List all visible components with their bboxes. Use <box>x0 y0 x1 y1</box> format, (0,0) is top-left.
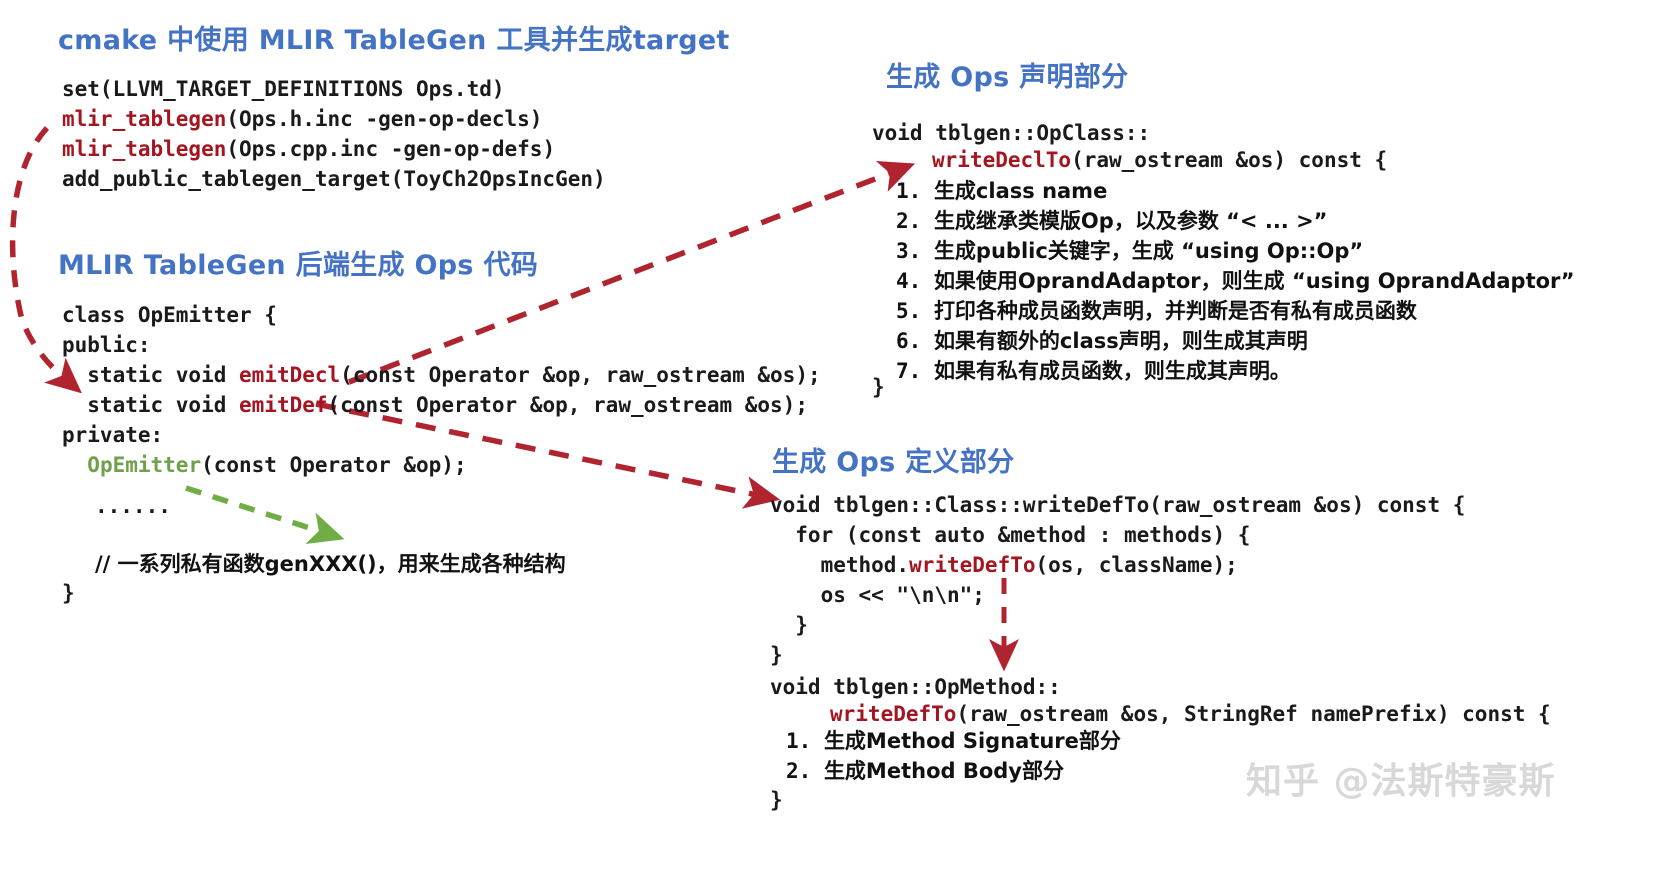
comment-private-functions: // 一系列私有函数genXXX()，用来生成各种结构 <box>95 548 566 578</box>
code-line: public: <box>62 330 821 360</box>
code-line: private: <box>62 420 821 450</box>
def-method-line1: void tblgen::OpMethod:: <box>770 672 1061 702</box>
code-token: emitDecl <box>239 363 340 387</box>
code-token: public: <box>62 333 151 357</box>
code-token: (const Operator &op); <box>201 453 467 477</box>
decl-signature-line1: void tblgen::OpClass:: <box>872 118 1150 148</box>
watermark: 知乎 @法斯特豪斯 <box>1246 752 1556 804</box>
code-token: mlir_tablegen <box>62 107 226 131</box>
def-method-line2: writeDefTo(raw_ostream &os, StringRef na… <box>830 699 1551 729</box>
code-token: (os, className); <box>1036 553 1238 577</box>
code-token: } <box>770 613 808 637</box>
code-token: void tblgen::Class::writeDefTo(raw_ostre… <box>770 493 1465 517</box>
list-item: 6. 如果有额外的class声明，则生成其声明 <box>896 326 1575 356</box>
def-step-list: 1. 生成Method Signature部分2. 生成Method Body部… <box>786 726 1121 786</box>
code-line: } <box>770 610 1465 640</box>
code-token: set(LLVM_TARGET_DEFINITIONS Ops.td) <box>62 77 505 101</box>
list-item-number: 4. <box>896 269 934 293</box>
code-token: class OpEmitter { <box>62 303 277 327</box>
list-item-number: 5. <box>896 299 934 323</box>
code-token: mlir_tablegen <box>62 137 226 161</box>
code-block-backend: class OpEmitter {public: static void emi… <box>62 300 821 480</box>
decl-closing-brace: } <box>872 372 885 402</box>
code-token: (const Operator &op, raw_ostream &os); <box>328 393 808 417</box>
list-item-text: 如果有私有成员函数，则生成其声明。 <box>934 359 1291 383</box>
code-token: method. <box>770 553 909 577</box>
list-item-text: 生成Method Signature部分 <box>824 729 1121 753</box>
list-item-text: 生成Method Body部分 <box>824 759 1064 783</box>
code-token: (Ops.h.inc -gen-op-decls) <box>226 107 542 131</box>
list-item-number: 7. <box>896 359 934 383</box>
code-line: static void emitDef(const Operator &op, … <box>62 390 821 420</box>
code-line: mlir_tablegen(Ops.h.inc -gen-op-decls) <box>62 104 606 134</box>
list-item-text: 如果有额外的class声明，则生成其声明 <box>934 329 1308 353</box>
list-item-number: 1. <box>896 179 934 203</box>
list-item: 7. 如果有私有成员函数，则生成其声明。 <box>896 356 1575 386</box>
code-token: writeDefTo <box>909 553 1035 577</box>
list-item: 4. 如果使用OprandAdaptor，则生成 “using OprandAd… <box>896 266 1575 296</box>
decl-signature-fn: writeDeclTo <box>932 148 1071 172</box>
list-item-text: 生成class name <box>934 179 1107 203</box>
code-line: mlir_tablegen(Ops.cpp.inc -gen-op-defs) <box>62 134 606 164</box>
list-item-number: 6. <box>896 329 934 353</box>
code-line: static void emitDecl(const Operator &op,… <box>62 360 821 390</box>
list-item: 1. 生成class name <box>896 176 1575 206</box>
decl-signature-line2: writeDeclTo(raw_ostream &os) const { <box>932 145 1387 175</box>
list-item: 2. 生成继承类模版Op，以及参数 “< ... >” <box>896 206 1575 236</box>
code-line: add_public_tablegen_target(ToyCh2OpsIncG… <box>62 164 606 194</box>
list-item: 1. 生成Method Signature部分 <box>786 726 1121 756</box>
backend-closing-brace: } <box>62 578 75 608</box>
list-item: 3. 生成public关键字，生成 “using Op::Op” <box>896 236 1575 266</box>
code-token: os << "\n\n"; <box>770 583 985 607</box>
code-line: void tblgen::Class::writeDefTo(raw_ostre… <box>770 490 1465 520</box>
code-token: } <box>770 643 783 667</box>
code-token: add_public_tablegen_target(ToyCh2OpsIncG… <box>62 167 606 191</box>
code-token: (Ops.cpp.inc -gen-op-defs) <box>226 137 555 161</box>
code-line: for (const auto &method : methods) { <box>770 520 1465 550</box>
list-item-number: 2. <box>896 209 934 233</box>
heading-backend: MLIR TableGen 后端生成 Ops 代码 <box>58 243 538 282</box>
code-line: method.writeDefTo(os, className); <box>770 550 1465 580</box>
code-block-def: void tblgen::Class::writeDefTo(raw_ostre… <box>770 490 1465 670</box>
code-token: emitDef <box>239 393 328 417</box>
list-item-text: 打印各种成员函数声明，并判断是否有私有成员函数 <box>934 299 1417 323</box>
ellipsis-private-methods: ...... <box>95 494 171 518</box>
heading-def: 生成 Ops 定义部分 <box>772 440 1014 479</box>
list-item-number: 2. <box>786 759 824 783</box>
code-token: (const Operator &op, raw_ostream &os); <box>340 363 820 387</box>
code-token: for (const auto &method : methods) { <box>770 523 1250 547</box>
code-token: private: <box>62 423 163 447</box>
code-token: static void <box>62 393 239 417</box>
heading-cmake: cmake 中使用 MLIR TableGen 工具并生成target <box>58 18 730 57</box>
decl-signature-rest: (raw_ostream &os) const { <box>1071 148 1387 172</box>
code-line: class OpEmitter { <box>62 300 821 330</box>
code-block-cmake: set(LLVM_TARGET_DEFINITIONS Ops.td)mlir_… <box>62 74 606 194</box>
code-line: OpEmitter(const Operator &op); <box>62 450 821 480</box>
heading-decl: 生成 Ops 声明部分 <box>886 55 1128 94</box>
decl-step-list: 1. 生成class name2. 生成继承类模版Op，以及参数 “< ... … <box>896 176 1575 386</box>
arrow-cmake-to-emitdecl <box>13 128 64 378</box>
code-token <box>62 453 87 477</box>
list-item-text: 生成继承类模版Op，以及参数 “< ... >” <box>934 209 1328 233</box>
list-item-number: 3. <box>896 239 934 263</box>
slide-canvas: cmake 中使用 MLIR TableGen 工具并生成target set(… <box>0 0 1672 888</box>
code-line: } <box>770 640 1465 670</box>
code-token: static void <box>62 363 239 387</box>
def-method-rest: (raw_ostream &os, StringRef namePrefix) … <box>956 702 1550 726</box>
def-closing-brace: } <box>770 785 783 815</box>
list-item-text: 如果使用OprandAdaptor，则生成 “using OprandAdapt… <box>934 269 1575 293</box>
def-method-fn: writeDefTo <box>830 702 956 726</box>
code-line: set(LLVM_TARGET_DEFINITIONS Ops.td) <box>62 74 606 104</box>
code-token: OpEmitter <box>87 453 201 477</box>
code-line: os << "\n\n"; <box>770 580 1465 610</box>
list-item: 5. 打印各种成员函数声明，并判断是否有私有成员函数 <box>896 296 1575 326</box>
list-item: 2. 生成Method Body部分 <box>786 756 1121 786</box>
list-item-number: 1. <box>786 729 824 753</box>
list-item-text: 生成public关键字，生成 “using Op::Op” <box>934 239 1363 263</box>
arrow-opemitter-to-comment <box>186 488 322 532</box>
